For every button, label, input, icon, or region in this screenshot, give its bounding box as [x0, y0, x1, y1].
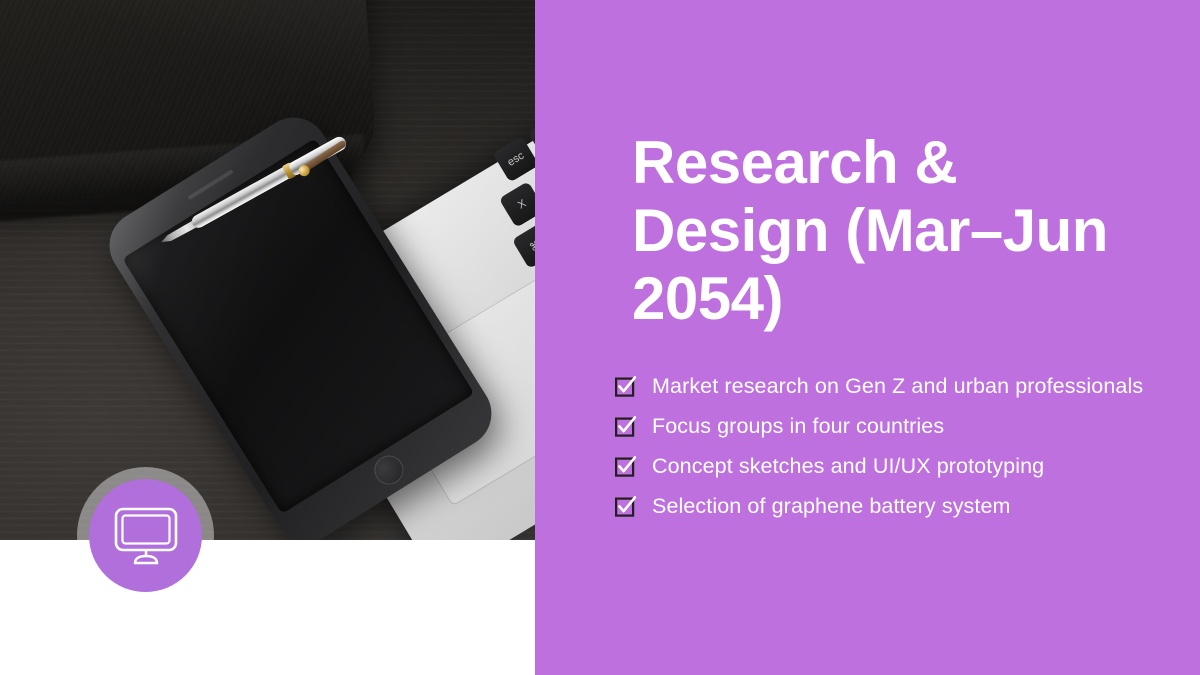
laptop-key: X — [499, 181, 535, 228]
page-title: Research & Design (Mar–Jun 2054) — [632, 129, 1132, 333]
desk-photo: esc F1 Y X A Z ⌘ esc F1 Y X A — [0, 0, 535, 540]
content-panel: Research & Design (Mar–Jun 2054) Market … — [535, 0, 1200, 675]
slide: esc F1 Y X A Z ⌘ esc F1 Y X A — [0, 0, 1200, 675]
checkbox-checked-icon[interactable] — [615, 456, 636, 477]
checkbox-checked-icon[interactable] — [615, 496, 636, 517]
list-item-label: Focus groups in four countries — [652, 411, 944, 442]
monitor-icon — [89, 479, 202, 592]
list-item[interactable]: Concept sketches and UI/UX prototyping — [615, 451, 1175, 482]
list-item-label: Selection of graphene battery system — [652, 491, 1011, 522]
icon-badge — [77, 467, 214, 604]
list-item[interactable]: Selection of graphene battery system — [615, 491, 1175, 522]
checklist: Market research on Gen Z and urban profe… — [615, 371, 1175, 531]
checkbox-checked-icon[interactable] — [615, 376, 636, 397]
list-item[interactable]: Focus groups in four countries — [615, 411, 1175, 442]
list-item[interactable]: Market research on Gen Z and urban profe… — [615, 371, 1175, 402]
list-item-label: Market research on Gen Z and urban profe… — [652, 371, 1143, 402]
laptop-key: ⌘ — [512, 222, 535, 269]
list-item-label: Concept sketches and UI/UX prototyping — [652, 451, 1044, 482]
checkbox-checked-icon[interactable] — [615, 416, 636, 437]
